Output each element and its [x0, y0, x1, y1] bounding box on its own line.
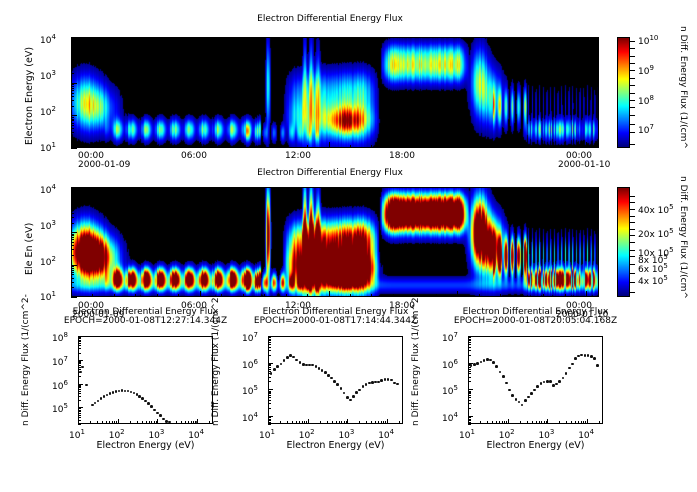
spectrum-3-yminortick [468, 377, 471, 378]
top-panel-cbtickmark [630, 100, 635, 101]
middle-panel-cbtickmark [630, 209, 635, 210]
spectrum-2-xminortick [378, 421, 379, 424]
data-point [273, 368, 276, 371]
middle-panel-ytickmark [71, 232, 77, 233]
spectrum-1-ytick-5: 105 [52, 402, 68, 415]
spectrum-1-xtickmark [157, 419, 158, 424]
middle-panel-cbtickmark [630, 222, 635, 223]
top-panel-yminortick [71, 55, 74, 56]
spectrum-1-xminortick [90, 421, 91, 424]
spectrum-1-xminortick [188, 421, 189, 424]
top-panel-yminortick [71, 40, 74, 41]
top-panel-cbtickmark [630, 63, 635, 64]
top-panel-xtickmark [178, 145, 179, 148]
data-point [593, 357, 596, 360]
spectrum-1-xtickmark [118, 419, 119, 424]
spectrum-1-yminortick [78, 408, 81, 409]
spectrum-3-ytick-5: 105 [442, 384, 458, 397]
spectrum-3-xminortick [571, 421, 572, 424]
middle-panel-cbtickmark [630, 264, 635, 265]
top-panel-yminortick [71, 67, 74, 68]
spectrum-3-yminortick [468, 344, 471, 345]
spectrum-2-yminortick [268, 367, 271, 368]
top-panel-yminortick [71, 120, 74, 121]
spectrum-2-xminortick [341, 421, 342, 424]
top-xtick-2: 12:00 [285, 151, 311, 161]
middle-panel-xtickmark [522, 294, 523, 297]
data-point [168, 421, 171, 424]
data-point [530, 392, 533, 395]
spectrum-3-xtickmark [547, 419, 548, 424]
middle-panel-xtickmark [500, 294, 501, 297]
middle-panel-cbtickmark [630, 216, 635, 217]
top-xtick-3: 18:00 [389, 151, 415, 161]
spectrum-3-yminortick [468, 393, 471, 394]
data-point [515, 398, 518, 401]
top-panel-yminortick [71, 88, 74, 89]
data-point [333, 380, 336, 383]
data-point [112, 391, 115, 394]
middle-panel-cbtickmark [630, 250, 635, 251]
top-panel-yminortick [71, 128, 74, 129]
spectrum-1-ytick-7: 107 [52, 355, 68, 368]
spectrum-3-yminortick [468, 373, 471, 374]
spectrum-2-xlabel: Electron Energy (eV) [233, 440, 438, 451]
data-point [81, 366, 84, 369]
spectrum-2-xminortick [336, 421, 337, 424]
middle-panel-yminortick [71, 282, 74, 283]
spectrum-3-yminortick [468, 367, 471, 368]
spectrum-2-yminortick [268, 381, 271, 382]
top-panel-yminortick [71, 93, 74, 94]
data-point [473, 363, 476, 366]
spectrum-1-yminortick [78, 387, 81, 388]
spectrum-2-xtickmark [308, 419, 309, 424]
spectrum-1-xminortick [209, 421, 210, 424]
top-panel-cbtickmark [630, 124, 635, 125]
spectrum-2-xtickmark [268, 419, 269, 424]
spectrum-2-xminortick [399, 421, 400, 424]
top-panel-xtickmark [522, 145, 523, 148]
data-point [492, 361, 495, 364]
spectrum-1-yminortick [78, 338, 81, 339]
spectrum-3-plot-frame [468, 336, 603, 424]
top-panel-cbtickmark [630, 48, 635, 49]
data-point [555, 383, 558, 386]
top-panel-xtickmark [500, 145, 501, 148]
data-point [540, 382, 543, 385]
top-cbtick-10: 1010 [638, 34, 658, 47]
top-cbtick-8: 108 [638, 94, 654, 107]
spectrum-3-xminortick [520, 421, 521, 424]
middle-panel-xtickmark [200, 291, 201, 297]
top-panel-ytickmark [71, 148, 77, 149]
middle-panel-ytickmark [71, 265, 77, 266]
spectrum-2-ytick-4: 104 [242, 411, 258, 424]
middle-panel-yminortick [71, 272, 74, 273]
spectrum-2-xminortick [375, 421, 376, 424]
spectrum-3-yminortick [468, 424, 471, 425]
spectrum-1-yminortick [78, 385, 81, 386]
spectrum-2-xminortick [366, 421, 367, 424]
spectrum-1-yminortick [78, 391, 81, 392]
spectrum-3-ytick-7: 107 [442, 331, 458, 344]
spectrum-1-ytick-8: 108 [52, 331, 68, 344]
data-point [324, 371, 327, 374]
middle-panel-yminortick [71, 274, 74, 275]
spectrum-1-xminortick [193, 421, 194, 424]
data-point [355, 391, 358, 394]
data-point [346, 396, 349, 399]
spectrum-1-yminortick [78, 417, 81, 418]
spectrum-3-xminortick [546, 421, 547, 424]
spectrum-3-xminortick [527, 421, 528, 424]
spectrum-3-xminortick [585, 421, 586, 424]
spectrum-1-xminortick [146, 421, 147, 424]
spectrum-3-xminortick [541, 421, 542, 424]
middle-plot-frame [71, 187, 599, 297]
middle-panel-yminortick [71, 287, 74, 288]
spectrum-1-xminortick [156, 421, 157, 424]
top-panel-yminortick [71, 52, 74, 53]
spectrum-2-yminortick [268, 408, 271, 409]
spectrum-1-yminortick [78, 400, 81, 401]
spectrum-2-yminortick [268, 397, 271, 398]
spectrum-1-yminortick [78, 396, 81, 397]
middle-cbtick-20: 20x 105 [638, 227, 674, 240]
middle-panel-xtickmark [114, 294, 115, 297]
spectrum-1-xminortick [116, 421, 117, 424]
top-panel-yminortick [71, 123, 74, 124]
top-ytick-4: 104 [40, 33, 56, 46]
spectrum-3-ylabel: n Diff. Energy Flux (1/(cm^2- [411, 426, 543, 436]
middle-panel-yminortick [71, 234, 74, 235]
spectrum-1-xminortick [191, 421, 192, 424]
spectrum-2-yminortick [268, 369, 271, 370]
spectrum-2-xminortick [280, 421, 281, 424]
middle-panel-xtickmark [371, 294, 372, 297]
spectrum-1-xminortick [176, 421, 177, 424]
spectrum-2-xminortick [292, 421, 293, 424]
middle-panel-xtickmark [586, 291, 587, 297]
spectrum-2-xminortick [381, 421, 382, 424]
data-point [508, 389, 511, 392]
top-panel-xtickmark [436, 145, 437, 148]
top-panel-xtickmark [543, 145, 544, 148]
spectrum-2-xminortick [287, 421, 288, 424]
middle-panel-xtickmark [157, 294, 158, 297]
spectrum-2-xminortick [306, 421, 307, 424]
data-point [574, 357, 577, 360]
spectrum-1-xminortick [106, 421, 107, 424]
top-panel-xtickmark [329, 142, 330, 148]
data-point [596, 364, 599, 367]
spectrum-1-xminortick [181, 421, 182, 424]
spectrum-1-yminortick [78, 386, 81, 387]
spectrum-2-yminortick [268, 395, 271, 396]
data-point [476, 362, 479, 365]
spectrum-2-xminortick [344, 421, 345, 424]
middle-panel-yminortick [71, 235, 74, 236]
middle-ytick-3: 103 [40, 219, 56, 232]
spectrum-1-yminortick [78, 413, 81, 414]
spectrum-3-xminortick [506, 421, 507, 424]
data-point [527, 396, 530, 399]
top-panel-yminortick [71, 86, 74, 87]
spectrum-1-yminortick [78, 415, 81, 416]
top-panel-xtickmark [157, 145, 158, 148]
middle-colorbar [617, 187, 630, 297]
top-panel-cbtickmark [630, 78, 635, 79]
spectrum-1-xminortick [149, 421, 150, 424]
spectrum-1-xminortick [114, 421, 115, 424]
middle-ytick-2: 102 [40, 255, 56, 268]
spectrum-3-ytick-4: 104 [442, 411, 458, 424]
middle-panel-yminortick [71, 278, 74, 279]
top-panel-yminortick [71, 125, 74, 126]
spectrum-1-xminortick [102, 421, 103, 424]
data-point [486, 358, 489, 361]
spectrum-3-xminortick [583, 421, 584, 424]
top-panel-yminortick [71, 138, 74, 139]
spectrum-3-yminortick [468, 355, 471, 356]
middle-panel-xtickmark [457, 291, 458, 297]
spectrum-1-plot-frame [78, 336, 213, 424]
middle-panel-xtickmark [565, 294, 566, 297]
spectrum-2-yminortick [268, 391, 271, 392]
spectrum-3-xminortick [502, 421, 503, 424]
spectrum-3-ytick-6: 106 [442, 358, 458, 371]
spectrum-1-xminortick [151, 421, 152, 424]
data-point [396, 383, 399, 386]
top-panel-cbtickmark [630, 85, 635, 86]
spectrum-2-yminortick [268, 340, 271, 341]
top-panel-xtickmark [114, 145, 115, 148]
data-point [276, 365, 279, 368]
middle-ytick-1: 101 [40, 290, 56, 303]
spectrum-2-yminortick [268, 344, 271, 345]
spectrum-3-yminortick [468, 340, 471, 341]
top-colorbar-label: n Diff. Energy Flux (1/(cm^ [688, 26, 697, 36]
spectrum-2-yminortick [268, 347, 271, 348]
spectrum-1-yminortick [78, 389, 81, 390]
data-point [558, 380, 561, 383]
top-ytick-2: 102 [40, 105, 56, 118]
spectrum-3-xtickmark [508, 419, 509, 424]
spectrum-2-xtickmark [347, 419, 348, 424]
spectrum-2-yminortick [268, 342, 271, 343]
spectrum-1-yminortick [78, 340, 81, 341]
data-point [292, 356, 295, 359]
middle-panel-yminortick [71, 249, 74, 250]
spectrum-3-xminortick [544, 421, 545, 424]
top-panel-cbtickmark [630, 70, 635, 71]
middle-panel-title: Electron Differential Energy Flux [0, 168, 660, 178]
middle-panel-xtickmark [393, 294, 394, 297]
data-point [536, 385, 539, 388]
middle-panel-xtickmark [414, 294, 415, 297]
top-panel-title: Electron Differential Energy Flux [0, 14, 660, 24]
middle-cbtick-40: 40x 105 [638, 203, 674, 216]
spectrum-1-yminortick [78, 337, 81, 338]
middle-panel-yminortick [71, 266, 74, 267]
middle-panel-ytickmark [71, 200, 77, 201]
top-xtick-1: 06:00 [181, 151, 207, 161]
spectrum-3-yminortick [468, 408, 471, 409]
spectrum-2-yminortick [268, 365, 271, 366]
middle-panel-cbtickmark [630, 235, 635, 236]
spectrum-1-xminortick [185, 421, 186, 424]
spectrum-1-yminortick [78, 348, 81, 349]
spectrum-3-xminortick [496, 421, 497, 424]
top-panel-cbtickmark [630, 41, 635, 42]
spectrum-1-yminortick [78, 393, 81, 394]
spectrum-1-xminortick [142, 421, 143, 424]
middle-panel-xtickmark [71, 291, 72, 297]
middle-panel-xtickmark [479, 294, 480, 297]
spectrum-1-yminortick [78, 363, 81, 364]
spectrum-2-yminortick [268, 364, 271, 365]
data-point [305, 364, 308, 367]
spectrum-3-xminortick [599, 421, 600, 424]
middle-panel-yminortick [71, 239, 74, 240]
top-panel-xtickmark [479, 145, 480, 148]
spectrum-1-xlabel: Electron Energy (eV) [43, 440, 248, 451]
middle-panel-xtickmark [92, 294, 93, 297]
spectrum-2-xminortick [383, 421, 384, 424]
spectrum-2-xminortick [339, 421, 340, 424]
spectrum-2-xminortick [371, 421, 372, 424]
spectrum-2-yminortick [268, 403, 271, 404]
spectrum-3-xtickmark [587, 419, 588, 424]
spectrum-1-yminortick [78, 361, 81, 362]
top-panel-xtickmark [371, 145, 372, 148]
middle-panel-ytickmark [71, 297, 77, 298]
data-point [352, 395, 355, 398]
spectrum-2-xtickmark [387, 419, 388, 424]
top-panel-ytickmark [71, 83, 77, 84]
middle-panel-xtickmark [436, 294, 437, 297]
spectrum-2-yminortick [268, 400, 271, 401]
top-panel-yminortick [71, 100, 74, 101]
spectrum-2-yminortick [268, 424, 271, 425]
top-panel-xtickmark [243, 145, 244, 148]
middle-panel-yminortick [71, 213, 74, 214]
top-panel-xtickmark [565, 145, 566, 148]
top-panel-xtickmark [350, 145, 351, 148]
top-panel-ytickmark [71, 50, 77, 51]
top-panel-yminortick [71, 53, 74, 54]
top-panel-cbtickmark [630, 144, 635, 145]
data-point [115, 390, 118, 393]
spectrum-3-xminortick [581, 421, 582, 424]
data-point [336, 383, 339, 386]
middle-panel-yminortick [71, 223, 74, 224]
data-point [159, 414, 162, 417]
data-point [511, 394, 514, 397]
middle-panel-xtickmark [178, 294, 179, 297]
spectrum-3-xminortick [536, 421, 537, 424]
spectrum-2-xminortick [332, 421, 333, 424]
spectrum-1-yminortick [78, 376, 81, 377]
spectrum-1-xminortick [109, 421, 110, 424]
top-panel-xtickmark [71, 142, 72, 148]
spectrum-3-xtickmark [468, 419, 469, 424]
spectrum-2-yminortick [268, 393, 271, 394]
spectrum-2-xminortick [359, 421, 360, 424]
top-ytick-3: 103 [40, 69, 56, 82]
top-panel-xtickmark [393, 145, 394, 148]
spectrum-2-ytick-7: 107 [242, 331, 258, 344]
top-panel-yminortick [71, 60, 74, 61]
spectrum-2-xminortick [385, 421, 386, 424]
top-panel-xtickmark [264, 145, 265, 148]
middle-cbtick-4: 4x 105 [638, 274, 668, 287]
top-panel-xtickmark [221, 145, 222, 148]
spectrum-2-yminortick [268, 339, 271, 340]
top-panel-xtickmark [200, 142, 201, 148]
top-panel-xtickmark [414, 145, 415, 148]
middle-panel-yminortick [71, 210, 74, 211]
top-cbtick-7: 107 [638, 123, 654, 136]
spectrum-2-ytick-5: 105 [242, 384, 258, 397]
top-panel-yminortick [71, 63, 74, 64]
spectrum-2-xminortick [346, 421, 347, 424]
spectrum-1-yminortick [78, 410, 81, 411]
data-point [524, 399, 527, 402]
spectrum-2-xminortick [320, 421, 321, 424]
spectrum-3-yminortick [468, 391, 471, 392]
spectrum-1-xminortick [137, 421, 138, 424]
data-point [565, 372, 568, 375]
middle-panel-cbtickmark [630, 202, 635, 203]
spectrum-3-xminortick [575, 421, 576, 424]
spectrum-3-xminortick [559, 421, 560, 424]
spectrum-3-xminortick [492, 421, 493, 424]
spectrum-2-xminortick [304, 421, 305, 424]
data-point [79, 371, 82, 374]
spectrum-1-xtickmark [78, 419, 79, 424]
middle-panel-xtickmark [329, 291, 330, 297]
spectrum-3-yminortick [468, 350, 471, 351]
top-panel-yminortick [71, 73, 74, 74]
data-point [571, 363, 574, 366]
middle-panel-xtickmark [286, 294, 287, 297]
top-cbtick-9: 109 [638, 64, 654, 77]
top-panel-yminortick [71, 84, 74, 85]
spectrum-1-xminortick [97, 421, 98, 424]
middle-panel-yminortick [71, 203, 74, 204]
spectrum-1-ytick-6: 106 [52, 379, 68, 392]
top-panel-cbtickmark [630, 115, 635, 116]
middle-panel-yminortick [71, 268, 74, 269]
top-panel-yminortick [71, 96, 74, 97]
spectrum-3-xminortick [480, 421, 481, 424]
top-panel-yminortick [71, 132, 74, 133]
data-point [318, 367, 321, 370]
middle-panel-cbtickmark [630, 273, 635, 274]
middle-panel-xtickmark [135, 294, 136, 297]
data-point [340, 387, 343, 390]
top-panel-xtickmark [307, 145, 308, 148]
middle-panel-yminortick [71, 205, 74, 206]
top-panel-yminortick [71, 57, 74, 58]
spectrum-3-yminortick [468, 397, 471, 398]
top-panel-xtickmark [135, 145, 136, 148]
spectrum-1-ylabel: n Diff. Energy Flux (1/(cm^2- [21, 426, 153, 436]
top-panel-cbtickmark [630, 93, 635, 94]
middle-panel-yminortick [71, 270, 74, 271]
